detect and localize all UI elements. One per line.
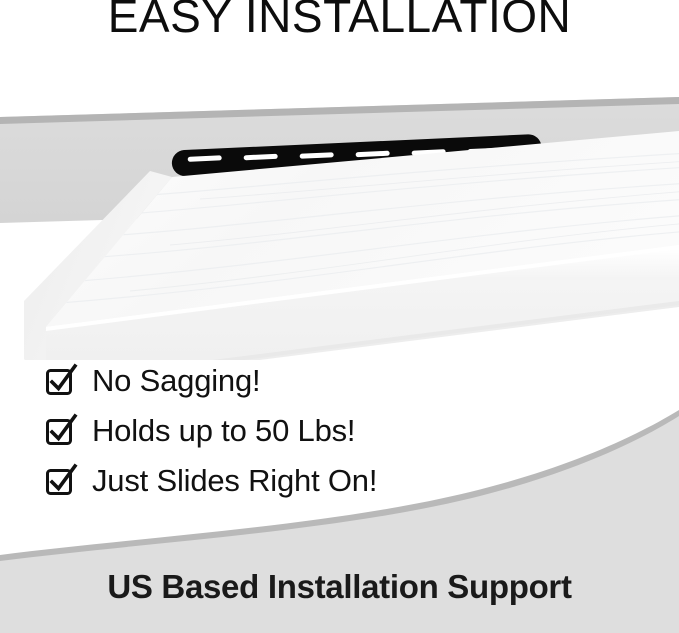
product-infographic: EASY INSTALLATION xyxy=(0,0,679,633)
checkbox-checked-icon xyxy=(44,363,78,397)
support-text: US Based Installation Support xyxy=(0,568,679,606)
list-item-label: No Sagging! xyxy=(92,365,260,396)
page-title: EASY INSTALLATION xyxy=(0,0,679,42)
list-item: No Sagging! xyxy=(44,355,564,405)
product-scene xyxy=(0,95,679,360)
